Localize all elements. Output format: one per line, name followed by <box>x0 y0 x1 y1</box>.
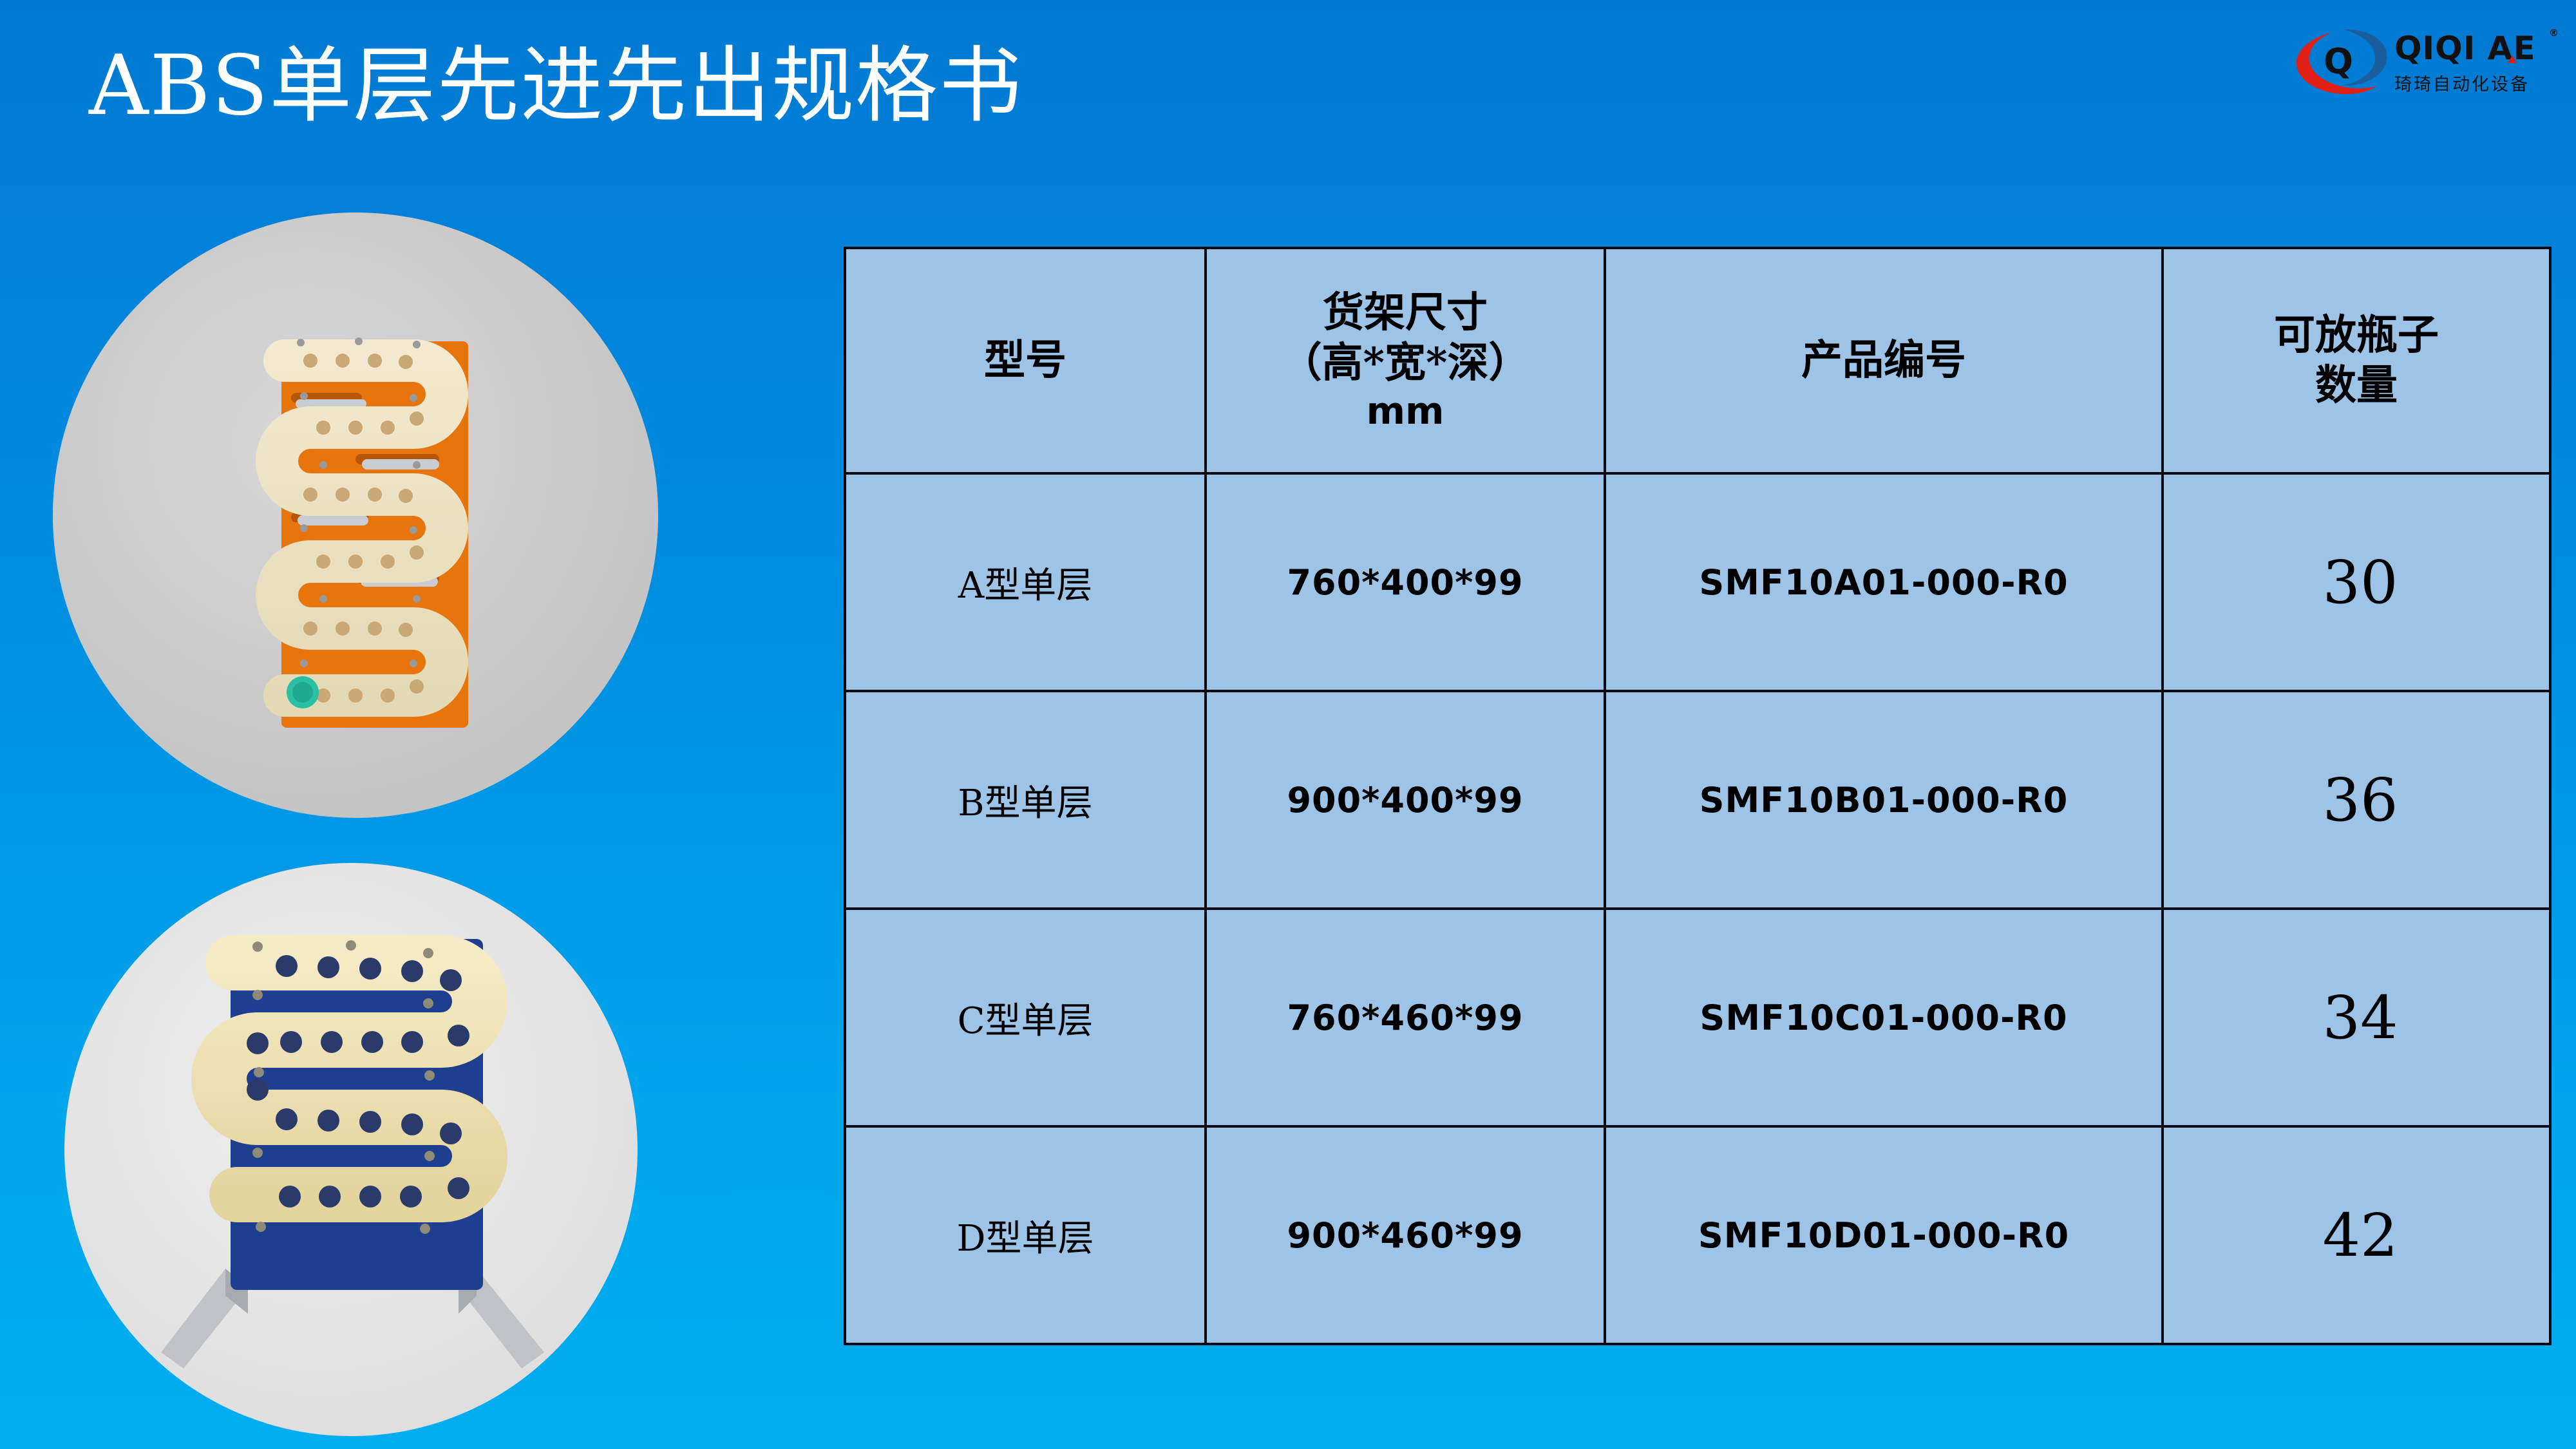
table-header-row: 型号 货架尺寸 （高*宽*深） mm 产品编号 可放瓶子 数量 <box>845 248 2550 473</box>
cell-model: C型单层 <box>845 909 1206 1126</box>
cell-size: 900*460*99 <box>1206 1126 1605 1344</box>
logo-subtitle: 琦琦自动化设备 <box>2394 70 2555 95</box>
product-photo-blue-rack <box>64 863 638 1436</box>
column-header-bottle-qty: 可放瓶子 数量 <box>2163 248 2550 473</box>
cell-product-code: SMF10D01-000-R0 <box>1605 1126 2163 1344</box>
cell-size: 760*400*99 <box>1206 473 1605 691</box>
table-row: B型单层 900*400*99 SMF10B01-000-R0 36 <box>845 691 2550 909</box>
abs-fifo-rack-blue-illustration <box>64 863 638 1436</box>
cell-size: 760*460*99 <box>1206 909 1605 1126</box>
abs-fifo-rack-orange-illustration <box>53 213 658 818</box>
logo-accent-triangle-icon <box>2508 55 2517 63</box>
logo-wordmark: QIQI AE ® <box>2394 32 2555 64</box>
cell-bottle-qty: 36 <box>2163 691 2550 909</box>
cell-bottle-qty: 34 <box>2163 909 2550 1126</box>
logo-trademark: ® <box>2549 28 2559 38</box>
cell-model: B型单层 <box>845 691 1206 909</box>
column-header-bottle-qty-line2: 数量 <box>2168 361 2545 411</box>
cell-product-code: SMF10B01-000-R0 <box>1605 691 2163 909</box>
column-header-bottle-qty-line1: 可放瓶子 <box>2168 310 2545 361</box>
column-header-product-code-line1: 产品编号 <box>1610 336 2157 386</box>
cell-bottle-qty: 42 <box>2163 1126 2550 1344</box>
company-logo: Q QIQI AE ® 琦琦自动化设备 <box>2293 19 2557 103</box>
product-photo-orange-rack <box>53 213 658 818</box>
column-header-size: 货架尺寸 （高*宽*深） mm <box>1206 248 1605 473</box>
cell-size: 900*400*99 <box>1206 691 1605 909</box>
column-header-model-line1: 型号 <box>850 336 1200 386</box>
cell-product-code: SMF10C01-000-R0 <box>1605 909 2163 1126</box>
svg-text:Q: Q <box>2324 41 2353 82</box>
table-row: C型单层 760*460*99 SMF10C01-000-R0 34 <box>845 909 2550 1126</box>
specification-table: 型号 货架尺寸 （高*宽*深） mm 产品编号 可放瓶子 数量 A型单层 <box>844 247 2552 1345</box>
column-header-size-unit: mm <box>1211 388 1600 434</box>
column-header-model: 型号 <box>845 248 1206 473</box>
slide-canvas: ABS单层先进先出规格书 Q QIQI AE ® 琦琦自动化设备 <box>0 0 2576 1449</box>
table-row: A型单层 760*400*99 SMF10A01-000-R0 30 <box>845 473 2550 691</box>
cell-bottle-qty: 30 <box>2163 473 2550 691</box>
cell-bottle-qty-value: 34 <box>2322 983 2398 1052</box>
page-title: ABS单层先进先出规格书 <box>89 39 1023 133</box>
column-header-product-code: 产品编号 <box>1605 248 2163 473</box>
logo-text: QIQI AE ® 琦琦自动化设备 <box>2394 32 2555 95</box>
cell-bottle-qty-value: 30 <box>2322 548 2398 617</box>
column-header-size-line1: 货架尺寸 <box>1211 288 1600 338</box>
column-header-size-line2: （高*宽*深） <box>1211 338 1600 388</box>
cell-model: A型单层 <box>845 473 1206 691</box>
cell-bottle-qty-value: 42 <box>2322 1201 2398 1270</box>
cell-model: D型单层 <box>845 1126 1206 1344</box>
cell-bottle-qty-value: 36 <box>2322 766 2398 835</box>
cell-product-code: SMF10A01-000-R0 <box>1605 473 2163 691</box>
qiqi-q-mark-icon: Q <box>2293 24 2389 100</box>
table-row: D型单层 900*460*99 SMF10D01-000-R0 42 <box>845 1126 2550 1344</box>
